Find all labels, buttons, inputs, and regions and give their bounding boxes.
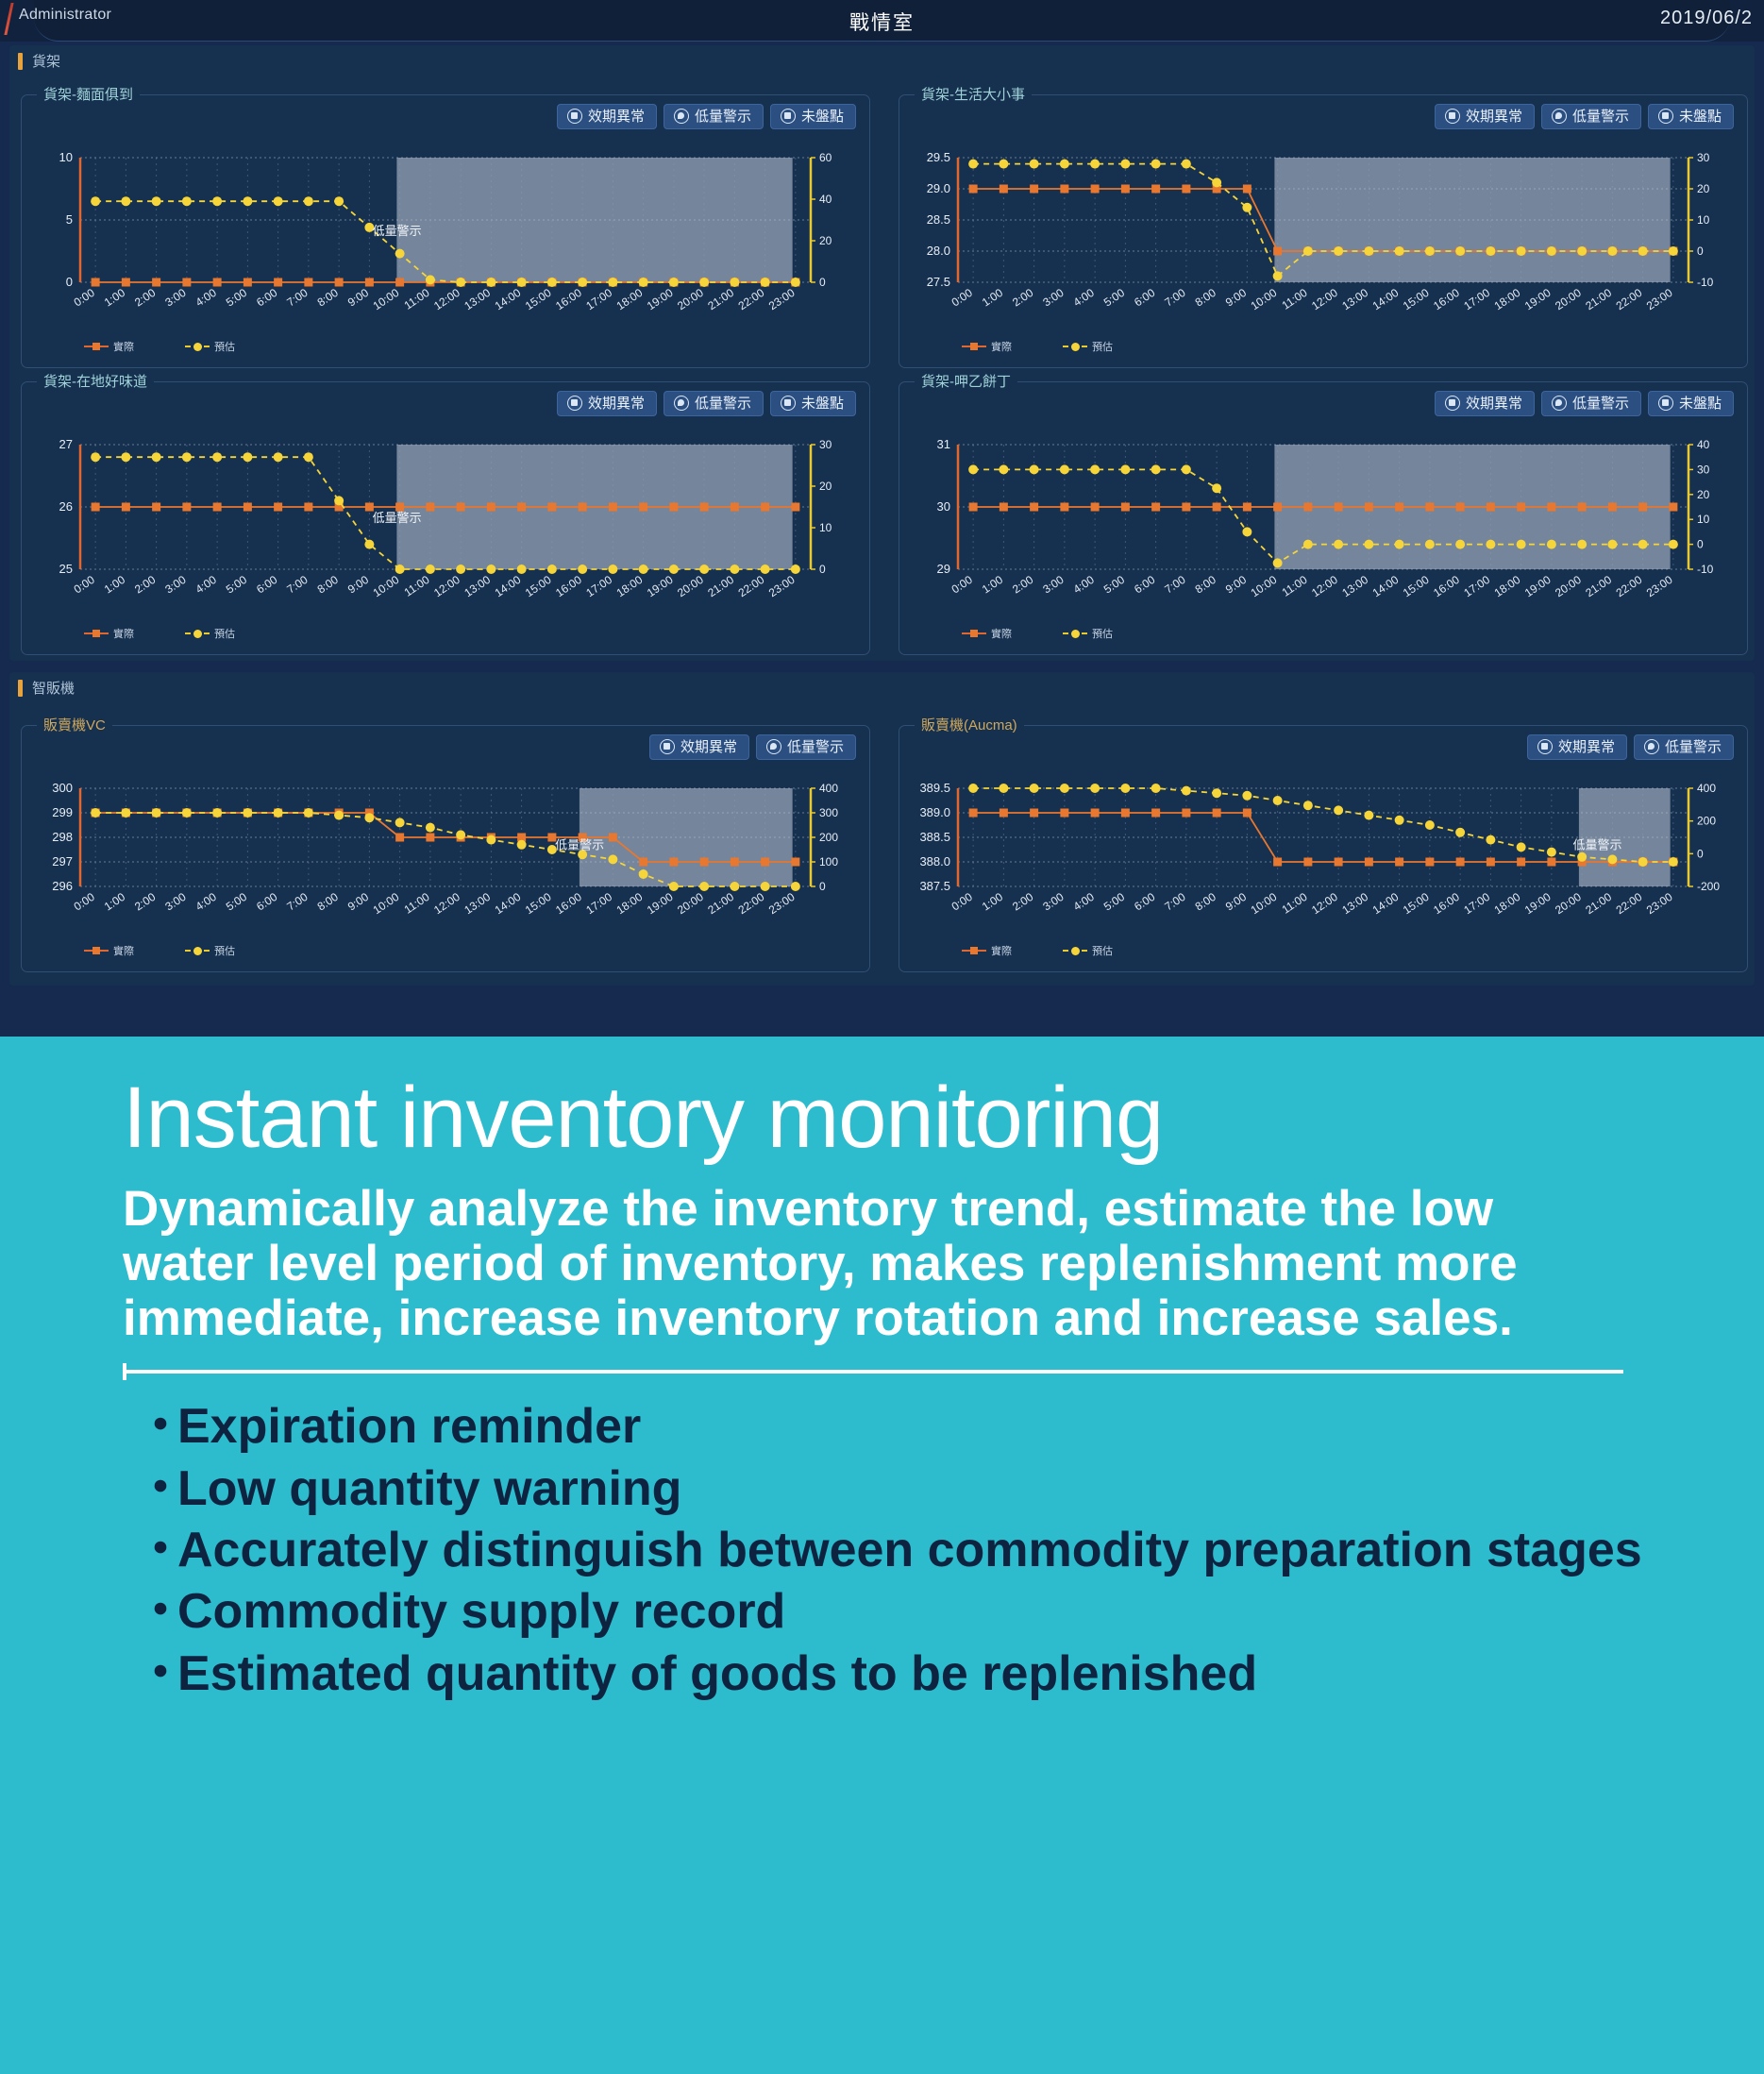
svg-text:7:00: 7:00 (284, 573, 310, 597)
button-low-quantity-warning[interactable]: 低量警示 (664, 391, 764, 416)
calendar-icon (1445, 109, 1460, 124)
svg-text:18:00: 18:00 (614, 890, 646, 918)
svg-text:20:00: 20:00 (1553, 573, 1584, 600)
svg-text:8:00: 8:00 (1193, 286, 1218, 310)
svg-text:20:00: 20:00 (1553, 890, 1584, 918)
svg-text:299: 299 (52, 805, 73, 819)
svg-text:388.5: 388.5 (919, 830, 950, 844)
caption-section: Instant inventory monitoring Dynamically… (0, 1037, 1764, 2074)
svg-text:13:00: 13:00 (462, 890, 493, 918)
svg-text:17:00: 17:00 (583, 286, 614, 313)
svg-text:200: 200 (1697, 815, 1716, 828)
svg-text:1:00: 1:00 (980, 890, 1005, 914)
svg-text:15:00: 15:00 (523, 573, 554, 600)
svg-text:387.5: 387.5 (919, 879, 950, 893)
legend-item-actual[interactable]: 實際 (84, 943, 134, 958)
svg-text:0: 0 (1697, 847, 1704, 860)
group-shelf-label: 貨架 (32, 51, 60, 71)
svg-text:9:00: 9:00 (1223, 573, 1249, 597)
svg-text:12:00: 12:00 (1309, 573, 1340, 600)
clipboard-icon (781, 396, 796, 411)
button-low-quantity-warning[interactable]: 低量警示 (664, 104, 764, 129)
legend-marker-square-icon (84, 346, 109, 347)
svg-text:10:00: 10:00 (371, 286, 402, 313)
svg-text:10:00: 10:00 (371, 573, 402, 600)
svg-text:0:00: 0:00 (949, 890, 975, 914)
svg-text:4:00: 4:00 (1071, 890, 1097, 914)
caption-bullet-item: ・Commodity supply record (123, 1583, 1707, 1641)
svg-text:6:00: 6:00 (254, 890, 279, 914)
panel-title: 貨架-麵面俱到 (37, 84, 140, 104)
clipboard-icon (1658, 109, 1673, 124)
panel-button-row: 效期異常低量警示 (1527, 734, 1734, 760)
svg-text:0: 0 (1697, 538, 1704, 551)
svg-text:9:00: 9:00 (345, 890, 371, 914)
svg-text:19:00: 19:00 (645, 286, 676, 313)
svg-text:12:00: 12:00 (1309, 286, 1340, 313)
svg-text:19:00: 19:00 (645, 573, 676, 600)
svg-text:17:00: 17:00 (583, 573, 614, 600)
button-expiry-abnormal[interactable]: 效期異常 (1527, 734, 1627, 760)
caption-bullet-text: Estimated quantity of goods to be replen… (177, 1646, 1257, 1701)
button-label: 效期異常 (588, 110, 645, 124)
svg-text:16:00: 16:00 (1431, 573, 1462, 600)
button-low-quantity-warning[interactable]: 低量警示 (1634, 734, 1734, 760)
svg-text:22:00: 22:00 (736, 286, 767, 313)
legend-marker-circle-icon (185, 950, 210, 952)
legend-marker-square-icon (84, 950, 109, 952)
calendar-icon (1537, 739, 1553, 754)
svg-text:20:00: 20:00 (675, 573, 706, 600)
svg-text:21:00: 21:00 (705, 286, 736, 313)
svg-text:13:00: 13:00 (462, 573, 493, 600)
svg-text:-10: -10 (1697, 563, 1714, 576)
svg-text:16:00: 16:00 (1431, 286, 1462, 313)
legend-label-estimate: 預估 (1092, 943, 1113, 958)
svg-text:15:00: 15:00 (523, 890, 554, 918)
legend-label-estimate: 預估 (214, 626, 235, 641)
button-label: 未盤點 (1679, 396, 1722, 411)
svg-text:11:00: 11:00 (1280, 890, 1310, 917)
svg-text:0: 0 (819, 563, 826, 576)
caption-body: Dynamically analyze the inventory trend,… (123, 1182, 1623, 1345)
svg-text:22:00: 22:00 (736, 573, 767, 600)
svg-text:27.5: 27.5 (927, 275, 950, 289)
svg-text:20:00: 20:00 (1553, 286, 1584, 313)
svg-text:8:00: 8:00 (315, 286, 341, 310)
button-label: 效期異常 (1558, 740, 1615, 754)
page-title: 戰情室 (0, 8, 1764, 36)
svg-text:388.0: 388.0 (919, 854, 950, 868)
panel-button-row: 效期異常低量警示未盤點 (1435, 104, 1734, 129)
caption-bullet-text: Commodity supply record (177, 1584, 785, 1639)
bullet-marker-icon: ・ (136, 1398, 185, 1456)
svg-text:0:00: 0:00 (72, 573, 97, 597)
svg-text:28.5: 28.5 (927, 212, 950, 227)
panel-title: 貨架-生活大小事 (915, 84, 1032, 104)
svg-text:4:00: 4:00 (193, 573, 219, 597)
svg-text:7:00: 7:00 (1162, 890, 1187, 914)
button-low-quantity-warning[interactable]: 低量警示 (756, 734, 856, 760)
svg-text:300: 300 (52, 781, 73, 795)
bullet-marker-icon: ・ (136, 1583, 185, 1641)
svg-text:389.5: 389.5 (919, 781, 950, 795)
svg-text:13:00: 13:00 (462, 286, 493, 313)
svg-text:11:00: 11:00 (1280, 286, 1310, 312)
svg-text:11:00: 11:00 (402, 286, 432, 312)
legend-label-estimate: 預估 (214, 943, 235, 958)
caption-bullet-text: Accurately distinguish between commodity… (177, 1523, 1642, 1577)
svg-text:29.5: 29.5 (927, 150, 950, 164)
svg-text:28.0: 28.0 (927, 244, 950, 258)
svg-text:4:00: 4:00 (193, 286, 219, 310)
button-expiry-abnormal[interactable]: 效期異常 (557, 104, 657, 129)
svg-text:3:00: 3:00 (162, 890, 188, 914)
button-label: 效期異常 (680, 740, 737, 754)
svg-text:8:00: 8:00 (315, 890, 341, 914)
chart-legend: 實際預估 (84, 943, 235, 958)
svg-text:30: 30 (1697, 151, 1710, 164)
panel-button-row: 效期異常低量警示未盤點 (1435, 391, 1734, 416)
svg-text:20:00: 20:00 (675, 286, 706, 313)
svg-text:0:00: 0:00 (72, 286, 97, 310)
chart-canvas: 2962972982993000:001:002:003:004:005:006… (31, 775, 862, 928)
svg-text:18:00: 18:00 (1492, 286, 1523, 313)
svg-text:10: 10 (819, 521, 832, 534)
svg-text:14:00: 14:00 (1370, 573, 1402, 600)
svg-text:5:00: 5:00 (1101, 286, 1127, 310)
date-label: 2019/06/2 (1660, 8, 1753, 29)
svg-text:15:00: 15:00 (523, 286, 554, 313)
svg-text:15:00: 15:00 (1401, 573, 1432, 600)
svg-text:10: 10 (1697, 213, 1710, 227)
svg-text:3:00: 3:00 (1040, 286, 1066, 310)
svg-text:0: 0 (819, 276, 826, 289)
button-not-counted[interactable]: 未盤點 (770, 104, 856, 129)
svg-text:2:00: 2:00 (132, 890, 158, 914)
group-accent-bar (18, 680, 23, 697)
svg-text:21:00: 21:00 (705, 573, 736, 600)
svg-text:10:00: 10:00 (1249, 890, 1280, 918)
svg-text:20: 20 (1697, 488, 1710, 501)
group-accent-bar (18, 53, 23, 70)
chart-panel: 貨架-呷乙餅丁效期異常低量警示未盤點2930310:001:002:003:00… (899, 381, 1748, 655)
legend-label-actual: 實際 (113, 339, 134, 354)
svg-text:389.0: 389.0 (919, 805, 950, 819)
svg-text:22:00: 22:00 (736, 890, 767, 918)
button-label: 低量警示 (1572, 110, 1629, 124)
legend-item-estimate[interactable]: 預估 (185, 943, 235, 958)
svg-text:10:00: 10:00 (1249, 573, 1280, 600)
svg-text:23:00: 23:00 (766, 890, 798, 918)
svg-text:400: 400 (1697, 782, 1716, 795)
svg-text:12:00: 12:00 (431, 890, 462, 918)
svg-text:12:00: 12:00 (431, 573, 462, 600)
svg-text:21:00: 21:00 (705, 890, 736, 918)
legend-item-estimate[interactable]: 預估 (1063, 943, 1113, 958)
button-expiry-abnormal[interactable]: 效期異常 (1435, 104, 1535, 129)
legend-marker-circle-icon (185, 632, 210, 634)
legend-item-estimate[interactable]: 預估 (1063, 626, 1113, 641)
button-label: 低量警示 (695, 110, 751, 124)
button-not-counted[interactable]: 未盤點 (1648, 391, 1734, 416)
svg-text:18:00: 18:00 (1492, 890, 1523, 918)
svg-text:13:00: 13:00 (1339, 573, 1370, 600)
clipboard-icon (781, 109, 796, 124)
svg-text:400: 400 (819, 782, 838, 795)
svg-text:18:00: 18:00 (1492, 573, 1523, 600)
calendar-icon (660, 739, 675, 754)
svg-text:2:00: 2:00 (1010, 286, 1035, 310)
svg-text:7:00: 7:00 (284, 286, 310, 310)
svg-text:4:00: 4:00 (1071, 286, 1097, 310)
svg-text:9:00: 9:00 (345, 573, 371, 597)
legend-label-estimate: 預估 (1092, 339, 1113, 354)
svg-text:2:00: 2:00 (1010, 890, 1035, 914)
svg-text:31: 31 (937, 437, 950, 451)
legend-item-estimate[interactable]: 預估 (185, 339, 235, 354)
chart-legend: 實際預估 (962, 626, 1113, 641)
svg-text:17:00: 17:00 (1461, 890, 1492, 918)
svg-text:16:00: 16:00 (553, 890, 584, 918)
button-label: 低量警示 (1572, 396, 1629, 411)
chart-canvas: 05100:001:002:003:004:005:006:007:008:00… (31, 144, 862, 324)
chart-panel: 販賣機VC效期異常低量警示2962972982993000:001:002:00… (21, 725, 870, 972)
svg-text:2:00: 2:00 (132, 573, 158, 597)
svg-text:60: 60 (819, 151, 832, 164)
svg-text:0: 0 (819, 880, 826, 893)
bullet-marker-icon: ・ (136, 1645, 185, 1703)
svg-text:6:00: 6:00 (254, 286, 279, 310)
svg-text:11:00: 11:00 (402, 573, 432, 599)
caption-bullet-item: ・Low quantity warning (123, 1460, 1707, 1518)
chart-panel: 貨架-麵面俱到效期異常低量警示未盤點05100:001:002:003:004:… (21, 94, 870, 368)
svg-text:16:00: 16:00 (1431, 890, 1462, 918)
svg-text:21:00: 21:00 (1583, 573, 1614, 600)
calendar-icon (567, 396, 582, 411)
caption-bullet-item: ・Accurately distinguish between commodit… (123, 1522, 1707, 1579)
svg-text:1:00: 1:00 (102, 890, 127, 914)
panel-button-row: 效期異常低量警示未盤點 (557, 391, 856, 416)
svg-text:1:00: 1:00 (102, 286, 127, 310)
legend-label-actual: 實際 (113, 943, 134, 958)
svg-text:0:00: 0:00 (72, 890, 97, 914)
svg-text:9:00: 9:00 (345, 286, 371, 310)
svg-text:27: 27 (59, 437, 73, 451)
svg-text:低量警示: 低量警示 (373, 511, 422, 525)
caption-title: Instant inventory monitoring (123, 1074, 1707, 1161)
svg-text:14:00: 14:00 (493, 573, 524, 600)
svg-text:8:00: 8:00 (315, 573, 341, 597)
svg-text:23:00: 23:00 (1644, 573, 1675, 600)
panel-button-row: 效期異常低量警示未盤點 (557, 104, 856, 129)
svg-text:1:00: 1:00 (980, 573, 1005, 597)
svg-text:0: 0 (66, 275, 73, 289)
svg-text:5:00: 5:00 (224, 573, 249, 597)
svg-text:23:00: 23:00 (1644, 286, 1675, 313)
legend-item-estimate[interactable]: 預估 (185, 626, 235, 641)
legend-item-actual[interactable]: 實際 (962, 626, 1012, 641)
svg-text:8:00: 8:00 (1193, 890, 1218, 914)
chart-panel: 貨架-在地好味道效期異常低量警示未盤點2526270:001:002:003:0… (21, 381, 870, 655)
svg-text:11:00: 11:00 (402, 890, 432, 917)
svg-text:18:00: 18:00 (614, 286, 646, 313)
legend-marker-square-icon (962, 346, 986, 347)
svg-text:40: 40 (819, 193, 832, 206)
svg-text:15:00: 15:00 (1401, 890, 1432, 918)
svg-text:14:00: 14:00 (493, 890, 524, 918)
legend-label-actual: 實際 (991, 626, 1012, 641)
caption-bullet-item: ・Estimated quantity of goods to be reple… (123, 1645, 1707, 1703)
caption-bullet-text: Low quantity warning (177, 1461, 681, 1516)
top-bar: Administrator 戰情室 2019/06/2 (0, 0, 1764, 42)
svg-text:29: 29 (937, 562, 950, 576)
bullet-marker-icon: ・ (136, 1460, 185, 1518)
svg-text:6:00: 6:00 (1132, 286, 1157, 310)
svg-text:296: 296 (52, 879, 73, 893)
svg-text:6:00: 6:00 (1132, 573, 1157, 597)
clipboard-icon (1658, 396, 1673, 411)
button-label: 未盤點 (801, 110, 844, 124)
svg-text:4:00: 4:00 (1071, 573, 1097, 597)
legend-marker-square-icon (962, 950, 986, 952)
chart-legend: 實際預估 (962, 943, 1113, 958)
svg-text:10: 10 (1697, 513, 1710, 526)
chart-canvas: 27.528.028.529.029.50:001:002:003:004:00… (909, 144, 1739, 324)
svg-text:低量警示: 低量警示 (373, 224, 422, 238)
svg-text:3:00: 3:00 (1040, 890, 1066, 914)
panel-title: 貨架-在地好味道 (37, 371, 154, 391)
svg-text:-200: -200 (1697, 880, 1720, 893)
svg-text:16:00: 16:00 (553, 573, 584, 600)
legend-marker-square-icon (962, 632, 986, 634)
svg-text:7:00: 7:00 (284, 890, 310, 914)
svg-text:14:00: 14:00 (1370, 286, 1402, 313)
svg-text:21:00: 21:00 (1583, 286, 1614, 313)
caption-bullet-text: Expiration reminder (177, 1399, 641, 1454)
legend-label-estimate: 預估 (1092, 626, 1113, 641)
svg-text:22:00: 22:00 (1614, 890, 1645, 918)
svg-text:200: 200 (819, 831, 838, 844)
svg-text:19:00: 19:00 (1522, 573, 1554, 600)
svg-text:14:00: 14:00 (1370, 890, 1402, 918)
chart-legend: 實際預估 (84, 626, 235, 641)
svg-text:21:00: 21:00 (1583, 890, 1614, 918)
svg-text:3:00: 3:00 (162, 573, 188, 597)
panel-button-row: 效期異常低量警示 (649, 734, 856, 760)
button-label: 效期異常 (588, 396, 645, 411)
chart-canvas: 2930310:001:002:003:004:005:006:007:008:… (909, 431, 1739, 611)
droplet-icon (766, 739, 781, 754)
svg-text:5:00: 5:00 (224, 890, 249, 914)
svg-text:9:00: 9:00 (1223, 286, 1249, 310)
chart-legend: 實際預估 (84, 339, 235, 354)
chart-canvas: 2526270:001:002:003:004:005:006:007:008:… (31, 431, 862, 611)
button-label: 效期異常 (1466, 110, 1522, 124)
button-expiry-abnormal[interactable]: 效期異常 (557, 391, 657, 416)
droplet-icon (1552, 109, 1567, 124)
svg-text:5:00: 5:00 (224, 286, 249, 310)
panel-title: 貨架-呷乙餅丁 (915, 371, 1017, 391)
svg-text:16:00: 16:00 (553, 286, 584, 313)
button-label: 低量警示 (1665, 740, 1722, 754)
chart-legend: 實際預估 (962, 339, 1113, 354)
legend-item-actual[interactable]: 實際 (962, 943, 1012, 958)
svg-text:19:00: 19:00 (1522, 286, 1554, 313)
chart-panel: 販賣機(Aucma)效期異常低量警示387.5388.0388.5389.038… (899, 725, 1748, 972)
svg-text:0:00: 0:00 (949, 286, 975, 310)
svg-text:1:00: 1:00 (980, 286, 1005, 310)
svg-text:300: 300 (819, 806, 838, 819)
legend-item-actual[interactable]: 實際 (962, 339, 1012, 354)
svg-text:17:00: 17:00 (583, 890, 614, 918)
legend-marker-square-icon (84, 632, 109, 634)
svg-text:5:00: 5:00 (1101, 890, 1127, 914)
button-expiry-abnormal[interactable]: 效期異常 (649, 734, 749, 760)
button-low-quantity-warning[interactable]: 低量警示 (1541, 104, 1641, 129)
svg-text:26: 26 (59, 499, 73, 514)
button-expiry-abnormal[interactable]: 效期異常 (1435, 391, 1535, 416)
droplet-icon (1644, 739, 1659, 754)
group-vending-label: 智販機 (32, 678, 75, 698)
chart-canvas: 387.5388.0388.5389.0389.50:001:002:003:0… (909, 775, 1739, 928)
button-label: 效期異常 (1466, 396, 1522, 411)
legend-item-actual[interactable]: 實際 (84, 339, 134, 354)
button-low-quantity-warning[interactable]: 低量警示 (1541, 391, 1641, 416)
caption-bullet-list: ・Expiration reminder・Low quantity warnin… (123, 1398, 1707, 1703)
button-label: 未盤點 (1679, 110, 1722, 124)
legend-marker-circle-icon (185, 346, 210, 347)
droplet-icon (674, 396, 689, 411)
svg-text:3:00: 3:00 (1040, 573, 1066, 597)
droplet-icon (674, 109, 689, 124)
svg-text:3:00: 3:00 (162, 286, 188, 310)
legend-label-actual: 實際 (991, 943, 1012, 958)
legend-item-actual[interactable]: 實際 (84, 626, 134, 641)
svg-text:23:00: 23:00 (1644, 890, 1675, 918)
svg-text:100: 100 (819, 855, 838, 868)
bullet-marker-icon: ・ (136, 1522, 185, 1579)
svg-text:6:00: 6:00 (1132, 890, 1157, 914)
svg-text:2:00: 2:00 (132, 286, 158, 310)
svg-text:1:00: 1:00 (102, 573, 127, 597)
svg-text:12:00: 12:00 (1309, 890, 1340, 918)
svg-text:20: 20 (1697, 182, 1710, 195)
svg-text:19:00: 19:00 (645, 890, 676, 918)
button-not-counted[interactable]: 未盤點 (1648, 104, 1734, 129)
svg-text:5:00: 5:00 (1101, 573, 1127, 597)
caption-divider (123, 1370, 1623, 1374)
svg-text:13:00: 13:00 (1339, 286, 1370, 313)
svg-text:2:00: 2:00 (1010, 573, 1035, 597)
svg-text:30: 30 (1697, 463, 1710, 476)
svg-text:17:00: 17:00 (1461, 573, 1492, 600)
dashboard: Administrator 戰情室 2019/06/2 貨架 智販機 貨架-麵面… (0, 0, 1764, 1037)
svg-text:19:00: 19:00 (1522, 890, 1554, 918)
legend-item-estimate[interactable]: 預估 (1063, 339, 1113, 354)
svg-text:4:00: 4:00 (193, 890, 219, 914)
svg-text:30: 30 (819, 438, 832, 451)
legend-label-actual: 實際 (991, 339, 1012, 354)
svg-text:0: 0 (1697, 244, 1704, 258)
svg-text:29.0: 29.0 (927, 181, 950, 195)
legend-marker-circle-icon (1063, 346, 1087, 347)
calendar-icon (1445, 396, 1460, 411)
svg-text:23:00: 23:00 (766, 573, 798, 600)
svg-text:10:00: 10:00 (1249, 286, 1280, 313)
button-not-counted[interactable]: 未盤點 (770, 391, 856, 416)
button-label: 低量警示 (695, 396, 751, 411)
